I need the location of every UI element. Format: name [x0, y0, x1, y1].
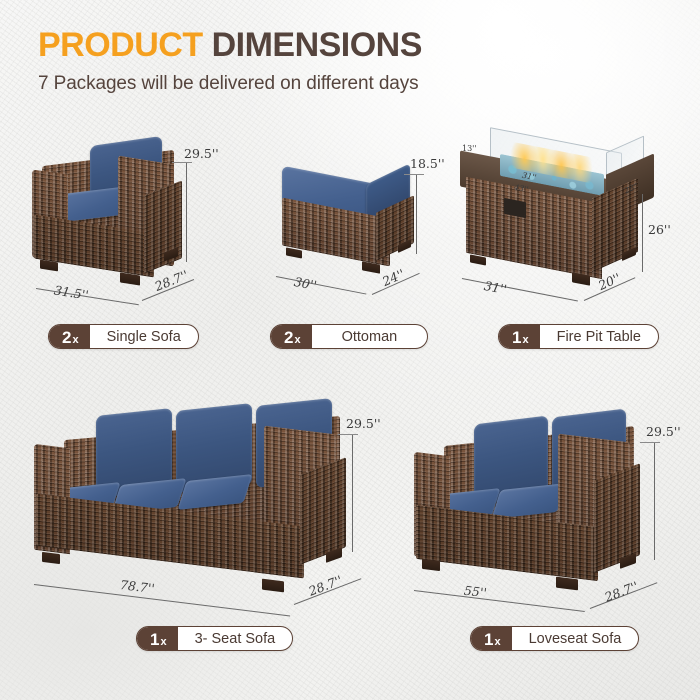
badge-name-single-sofa: Single Sofa — [90, 325, 198, 348]
badge-qty-single-sofa: 2x — [49, 325, 90, 348]
dim-label-firepit-windguard-depth: 13'' — [462, 144, 477, 153]
dim-tick — [338, 434, 358, 435]
dim-label-loveseat-width: 55'' — [463, 583, 487, 601]
badge-name-ottoman: Ottoman — [312, 325, 428, 348]
product-card-ottoman: 18.5'' 30'' 24'' 2x Ottoman — [256, 128, 466, 358]
page-subtitle: 7 Packages will be delivered on differen… — [38, 73, 422, 95]
dim-tick — [404, 174, 424, 175]
dim-guide-height — [416, 174, 417, 254]
badge-fire-pit-table[interactable]: 1x Fire Pit Table — [498, 324, 659, 349]
dim-label-ottoman-height: 18.5'' — [410, 156, 445, 171]
dim-label-firepit-height: 26'' — [648, 222, 671, 237]
dim-tick — [640, 442, 660, 443]
ottoman-illustration — [256, 128, 446, 308]
badge-qty-three-seat-sofa: 1x — [137, 627, 178, 650]
dim-tick — [172, 162, 192, 163]
page-header: PRODUCT DIMENSIONS 7 Packages will be de… — [38, 28, 422, 95]
badge-qty-ottoman: 2x — [271, 325, 312, 348]
badge-ottoman[interactable]: 2x Ottoman — [270, 324, 428, 349]
page-title: PRODUCT DIMENSIONS — [38, 28, 422, 64]
title-rest: DIMENSIONS — [212, 26, 422, 64]
dim-label-single-sofa-height: 29.5'' — [184, 146, 219, 161]
dim-label-three-seat-height: 29.5'' — [346, 416, 381, 431]
badge-loveseat-sofa[interactable]: 1x Loveseat Sofa — [470, 626, 639, 651]
dim-guide-height — [654, 442, 655, 560]
product-card-three-seat-sofa: 29.5'' 78.7'' 28.7'' 1x 3- Seat Sofa — [24, 398, 394, 678]
product-card-single-sofa: 29.5'' 31.5'' 28.7'' 2x Single Sofa — [24, 128, 254, 358]
product-card-loveseat-sofa: 29.5'' 55'' 28.7'' 1x Loveseat Sofa — [406, 398, 696, 678]
badge-name-fire-pit-table: Fire Pit Table — [540, 325, 658, 348]
dim-guide-height — [186, 162, 187, 262]
badge-single-sofa[interactable]: 2x Single Sofa — [48, 324, 199, 349]
dim-guide-height — [352, 434, 353, 552]
dim-label-loveseat-height: 29.5'' — [646, 424, 681, 439]
badge-qty-loveseat-sofa: 1x — [471, 627, 512, 650]
badge-qty-fire-pit-table: 1x — [499, 325, 540, 348]
loveseat-sofa-illustration — [406, 398, 676, 608]
dim-guide-height — [642, 194, 643, 272]
three-seat-sofa-illustration — [24, 398, 364, 608]
badge-name-loveseat-sofa: Loveseat Sofa — [512, 627, 639, 650]
badge-three-seat-sofa[interactable]: 1x 3- Seat Sofa — [136, 626, 293, 651]
title-highlight: PRODUCT — [38, 26, 203, 64]
product-card-fire-pit-table: 13'' 31'' 43'' 28'' 26'' 31'' 20'' 1x Fi… — [456, 128, 696, 358]
badge-name-three-seat-sofa: 3- Seat Sofa — [178, 627, 293, 650]
